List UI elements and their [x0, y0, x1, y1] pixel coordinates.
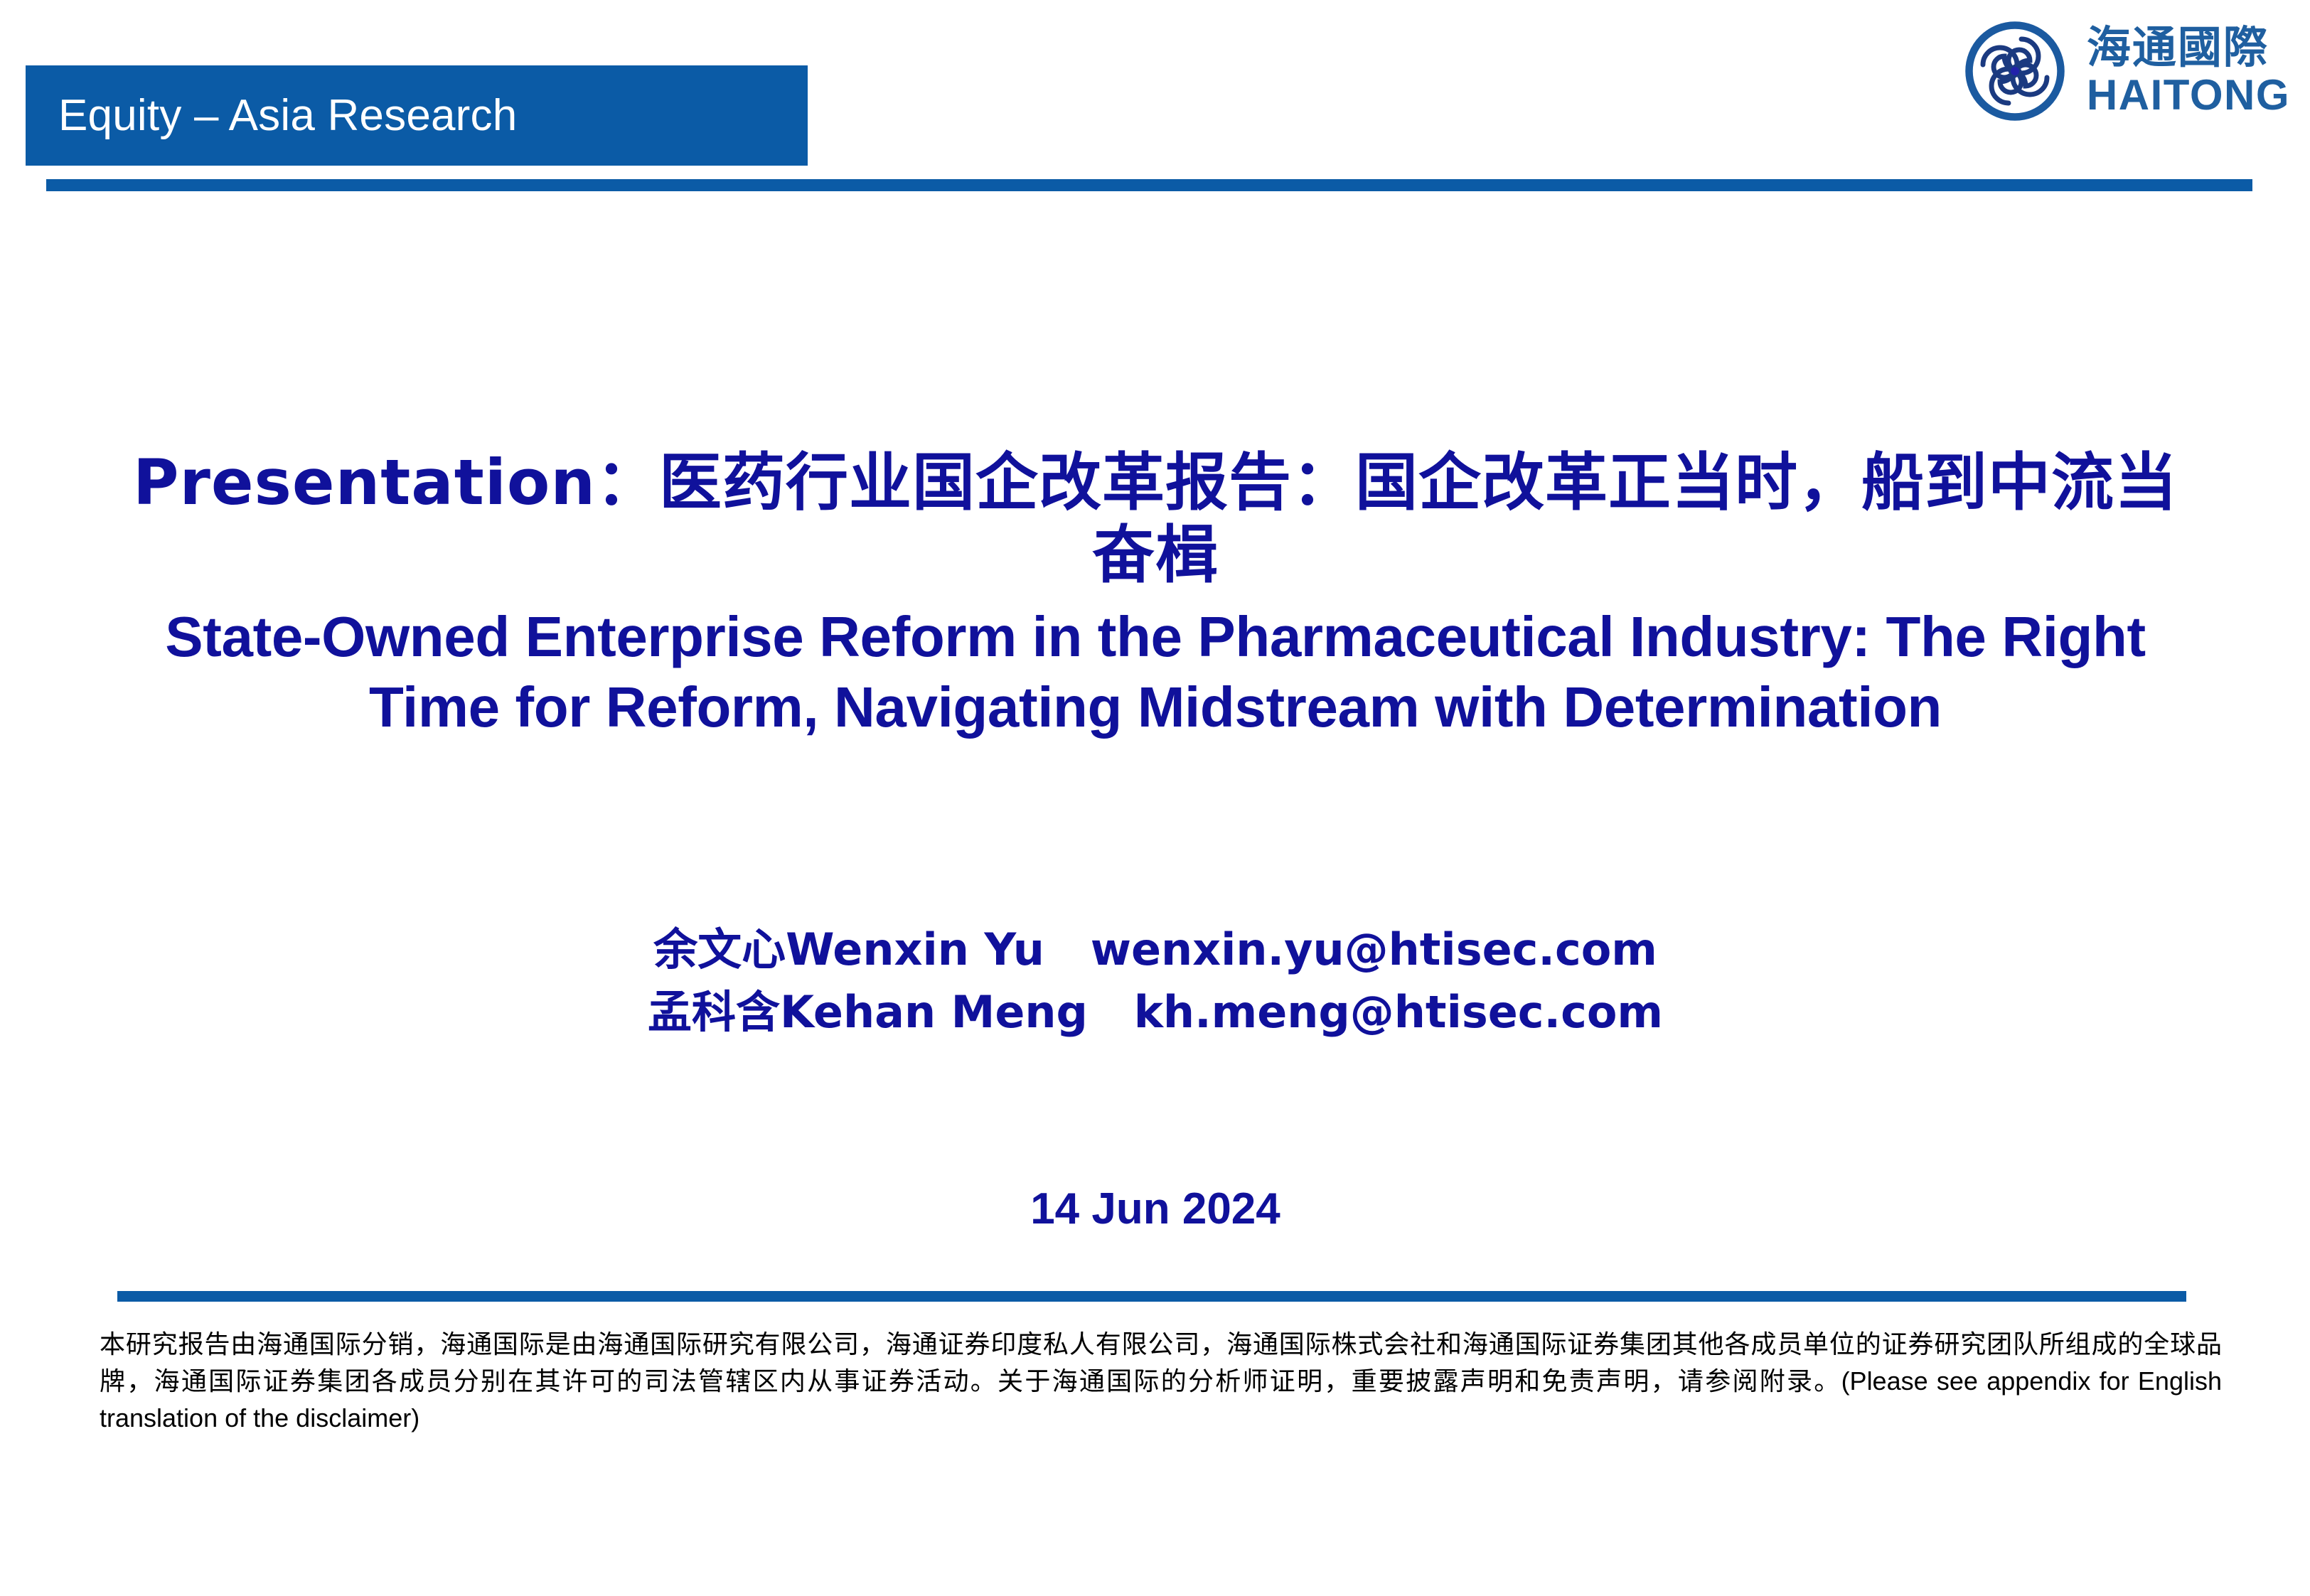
disclaimer-text: 本研究报告由海通国际分销，海通国际是由海通国际研究有限公司，海通证券印度私人有限…	[100, 1327, 2222, 1437]
title-block: Presentation：医药行业国企改革报告：国企改革正当时，船到中流当奋楫 …	[107, 446, 2204, 743]
author-line-secondary: 孟科含Kehan Meng kh.meng@htisec.com	[107, 981, 2204, 1044]
date-block: 14 Jun 2024	[107, 1187, 2204, 1231]
publication-date: 14 Jun 2024	[107, 1187, 2204, 1231]
presentation-title-english: State-Owned Enterprise Reform in the Pha…	[107, 601, 2204, 742]
presentation-title-chinese: Presentation：医药行业国企改革报告：国企改革正当时，船到中流当奋楫	[107, 446, 2204, 591]
authors-block: 余文心Wenxin Yu wenxin.yu@htisec.com 孟科含Keh…	[107, 918, 2204, 1044]
footer-divider-rule	[117, 1291, 2186, 1302]
author-line-primary: 余文心Wenxin Yu wenxin.yu@htisec.com	[107, 918, 2204, 981]
